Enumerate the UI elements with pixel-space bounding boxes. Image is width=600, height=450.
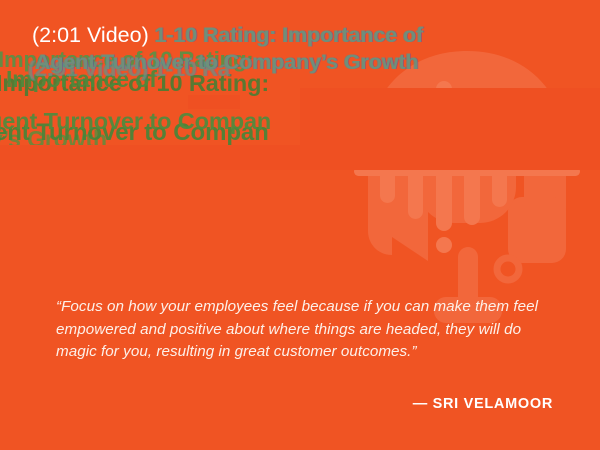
quote-attribution: — SRI VELAMOOR [413,396,553,412]
artifact-smudge-bottom [0,145,600,170]
video-duration-label: (2:01 Video) [32,23,149,47]
artifact-smudge-mid [188,95,240,109]
presentation-slide: (2:01 Video) 1-10 Ra Importance of 10 Ra… [0,0,600,450]
title-ghost-layer-4: gent Turnover to Compan [0,108,271,134]
pull-quote: “Focus on how your employees feel becaus… [56,296,556,364]
title-heading-line-1: 1-10 Rating: Importance of [155,23,424,47]
slide-title: (2:01 Video) 1-10 Rating: Importance of … [32,22,592,75]
title-heading-line-2: Agent Turnover to Company’s Growth [35,50,419,74]
slide-title-block: (2:01 Video) 1-10 Ra Importance of 10 Ra… [0,0,600,165]
